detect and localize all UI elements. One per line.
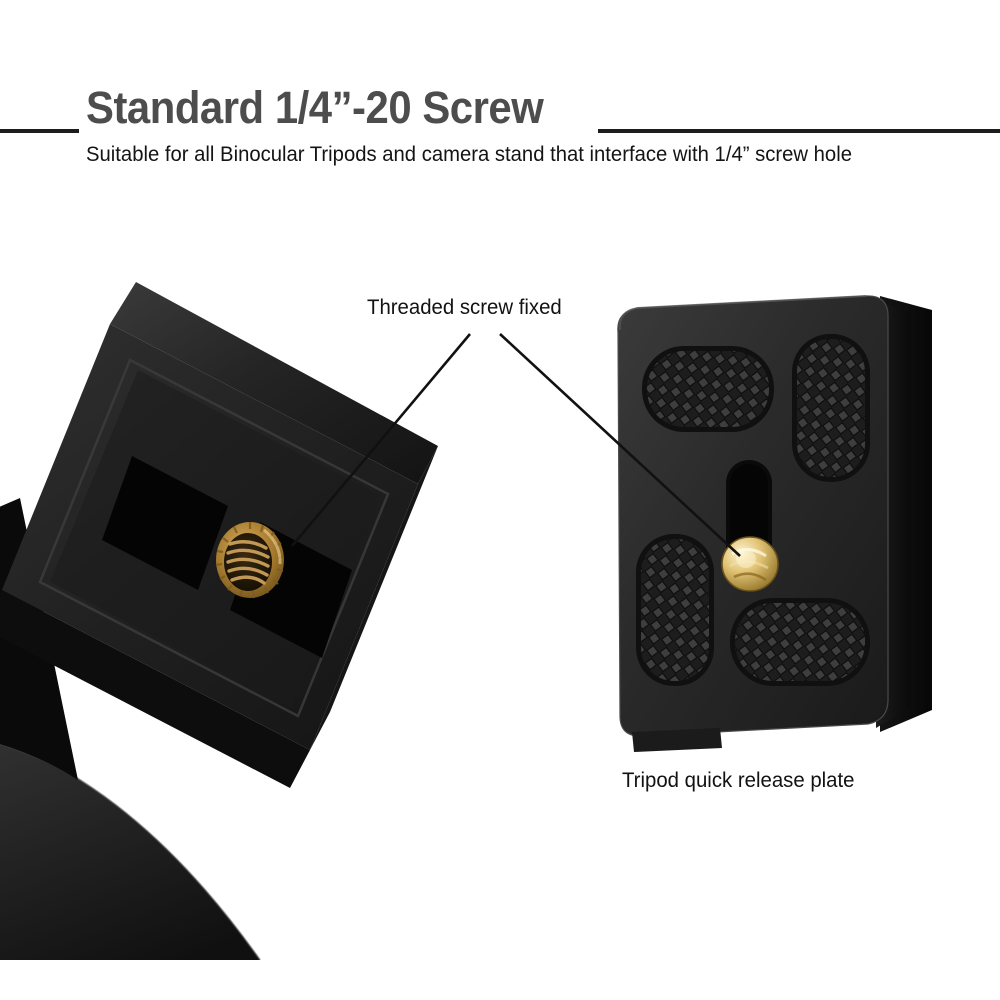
plate-center-slot <box>726 460 772 592</box>
page-subtitle: Suitable for all Binocular Tripods and c… <box>86 142 852 168</box>
bracket-right-side <box>310 446 438 750</box>
bracket-recess-outline <box>40 360 388 716</box>
rubber-pad-top-left <box>642 346 774 432</box>
header-rule-right <box>598 129 1000 133</box>
brass-screw-head <box>722 537 778 591</box>
bracket-cutout-left <box>102 456 228 590</box>
bracket-bottom-lip <box>0 590 310 788</box>
page-title: Standard 1/4”-20 Screw <box>86 84 543 132</box>
bracket-inner-wall <box>0 498 78 780</box>
product-photo-bracket <box>0 260 500 960</box>
leader-line-right <box>500 334 740 556</box>
product-photo-plate <box>580 280 960 760</box>
rubber-pad-bottom-left <box>636 534 714 686</box>
bracket-cutout-right <box>230 522 352 658</box>
bracket-head-face <box>2 324 418 750</box>
header-rule-left <box>0 129 79 133</box>
plate-bottom-tab <box>632 728 722 752</box>
brass-threaded-insert <box>216 522 284 598</box>
annotation-threaded-screw: Threaded screw fixed <box>367 296 562 320</box>
annotation-quick-release-plate: Tripod quick release plate <box>622 769 854 793</box>
plate-back-slab <box>880 296 932 732</box>
rubber-pad-bottom-right <box>730 598 870 686</box>
plate-body <box>618 296 888 736</box>
leader-line-left <box>292 334 470 546</box>
rubber-pad-top-right <box>792 334 870 482</box>
product-infographic: Standard 1/4”-20 Screw Suitable for all … <box>0 0 1000 1000</box>
plate-right-edge <box>876 300 910 728</box>
bracket-arm <box>0 730 260 960</box>
